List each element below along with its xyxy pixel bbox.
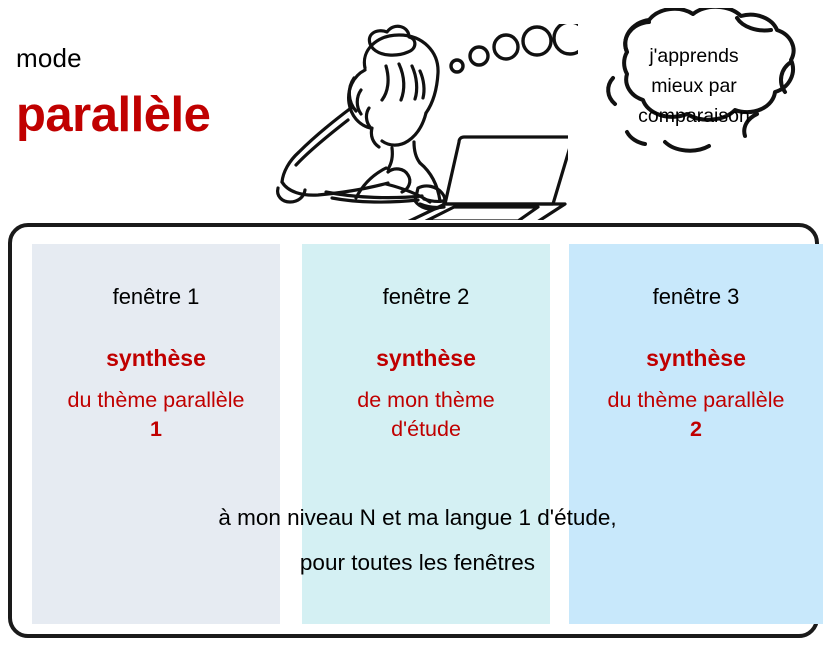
thought-bubble: j'apprends mieux par comparaison [559,8,827,168]
window-3-subtitle: du thème parallèle 2 [569,386,823,444]
window-column-2[interactable]: fenêtre 2 synthèse de mon thème d'étude [302,244,550,624]
thought-bubble-line-2: mieux par [601,71,787,101]
windows-panel: fenêtre 1 synthèse du thème parallèle 1 … [8,223,819,638]
thought-bubble-text: j'apprends mieux par comparaison [601,41,787,131]
window-2-title: fenêtre 2 [302,284,550,310]
window-1-subtitle-text: du thème parallèle [68,388,245,412]
header-region: mode parallèle [0,0,829,222]
mode-label: mode [16,43,82,73]
thought-bubble-line-3: comparaison [601,101,787,131]
window-3-title: fenêtre 3 [569,284,823,310]
thought-bubble-line-1: j'apprends [601,41,787,71]
window-2-subtitle: de mon thème d'étude [302,386,550,444]
window-2-subtitle-text: de mon thème [357,388,494,412]
window-1-synthesis: synthèse [32,345,280,372]
window-2-synthesis: synthèse [302,345,550,372]
window-3-synthesis: synthèse [569,345,823,372]
window-1-title: fenêtre 1 [32,284,280,310]
window-1-subtitle: du thème parallèle 1 [32,386,280,444]
window-1-number: 1 [36,415,276,444]
window-column-3[interactable]: fenêtre 3 synthèse du thème parallèle 2 [569,244,823,624]
windows-columns: fenêtre 1 synthèse du thème parallèle 1 … [32,244,803,624]
window-3-subtitle-text: du thème parallèle [608,388,785,412]
mode-title: parallèle [16,87,210,143]
window-3-number: 2 [573,415,819,444]
window-column-1[interactable]: fenêtre 1 synthèse du thème parallèle 1 [32,244,280,624]
window-2-number: d'étude [306,415,546,444]
